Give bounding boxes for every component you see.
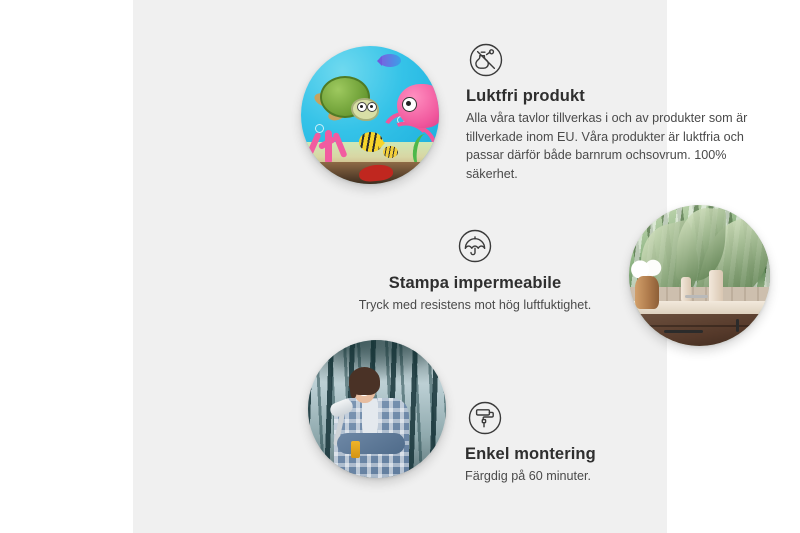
drawer-handle [664,330,703,333]
coral-icon [307,120,351,164]
feature-assembly: Enkel montering Färgdig på 60 minuter. [465,398,725,486]
woman-figure [333,370,410,478]
bottle-object [681,277,691,302]
product-photo-underwater[interactable] [301,46,439,184]
woman-hair-side [350,377,357,399]
octopus-icon [383,84,439,144]
feature-body: Alla våra tavlor tillverkas i och av pro… [466,109,756,183]
drawer-divider [640,325,770,327]
vase-object [635,276,659,310]
feature-title: Luktfri produkt [466,87,756,106]
paint-can-object [351,441,359,457]
turtle-eye [367,102,377,112]
yellow-fish-icon [359,132,383,152]
turtle-head [351,98,379,121]
turtle-eye [357,102,367,112]
no-odour-spray-bottle-icon [466,40,506,80]
faucet-object [685,295,708,298]
umbrella-icon [455,226,495,266]
content-panel: Luktfri produkt Alla våra tavlor tillver… [133,0,667,533]
feature-body: Färgdig på 60 minuter. [465,467,725,486]
feature-body: Tryck med resistens mot hög luftfuktighe… [340,296,610,315]
bottle-object [709,270,723,304]
vanity-cabinet [640,314,770,346]
octopus-head [397,84,439,128]
feature-waterproof: Stampa impermeabile Tryck med resistens … [340,226,610,315]
paint-roller-icon [465,398,505,438]
folded-arms [337,433,405,455]
blue-fish-icon [379,54,401,67]
product-photo-painter[interactable] [308,340,446,478]
screenshot-root: Luktfri produkt Alla våra tavlor tillver… [0,0,800,533]
feature-title: Enkel montering [465,445,725,464]
small-fish-icon [383,146,398,158]
feature-title: Stampa impermeabile [340,274,610,293]
sea-turtle-icon [314,76,376,122]
product-photo-bathroom[interactable] [629,205,770,346]
feature-odorless: Luktfri produkt Alla våra tavlor tillver… [466,40,756,183]
cabinet-handle [736,319,739,332]
octopus-eye [402,97,417,112]
